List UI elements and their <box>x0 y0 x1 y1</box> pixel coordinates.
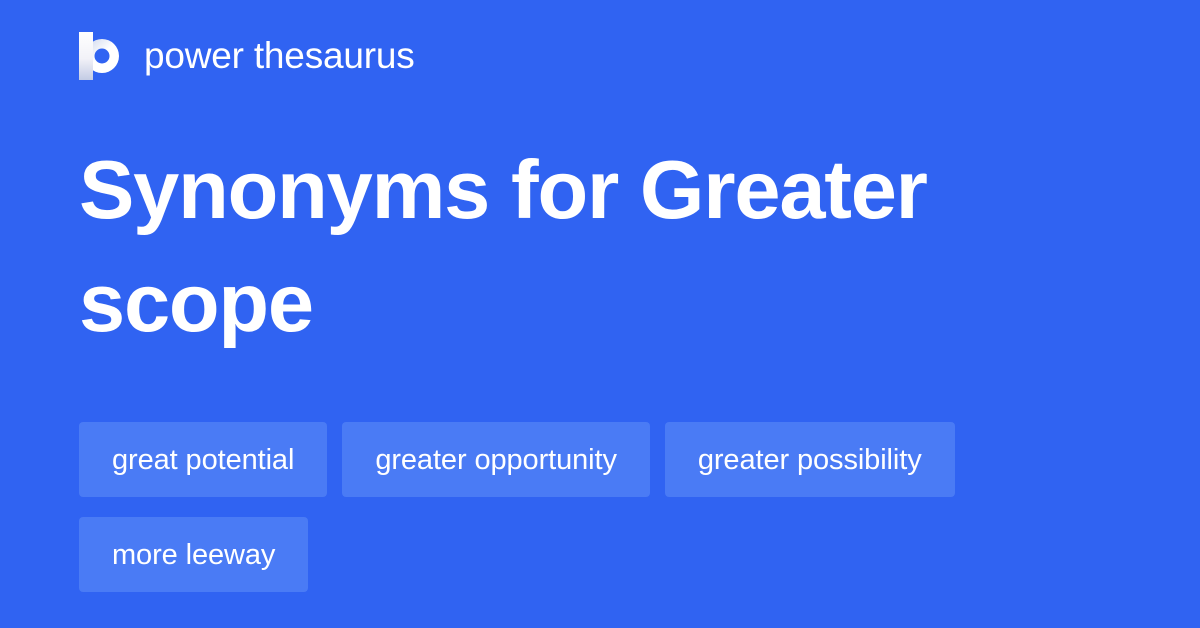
page-title-line-2: scope <box>79 246 1079 359</box>
brand-header[interactable]: power thesaurus <box>79 29 415 83</box>
synonym-chip[interactable]: more leeway <box>79 517 308 592</box>
synonym-chip[interactable]: greater opportunity <box>342 422 650 497</box>
synonym-chip-list: great potential greater opportunity grea… <box>79 422 1119 592</box>
page-title-line-1: Synonyms for Greater <box>79 133 1079 246</box>
share-card: power thesaurus Synonyms for Greater sco… <box>0 0 1200 628</box>
synonym-chip[interactable]: greater possibility <box>665 422 955 497</box>
brand-name: power thesaurus <box>144 34 415 78</box>
page-title: Synonyms for Greater scope <box>79 133 1079 359</box>
synonym-chip[interactable]: great potential <box>79 422 327 497</box>
power-thesaurus-b-logo-icon <box>79 32 125 80</box>
